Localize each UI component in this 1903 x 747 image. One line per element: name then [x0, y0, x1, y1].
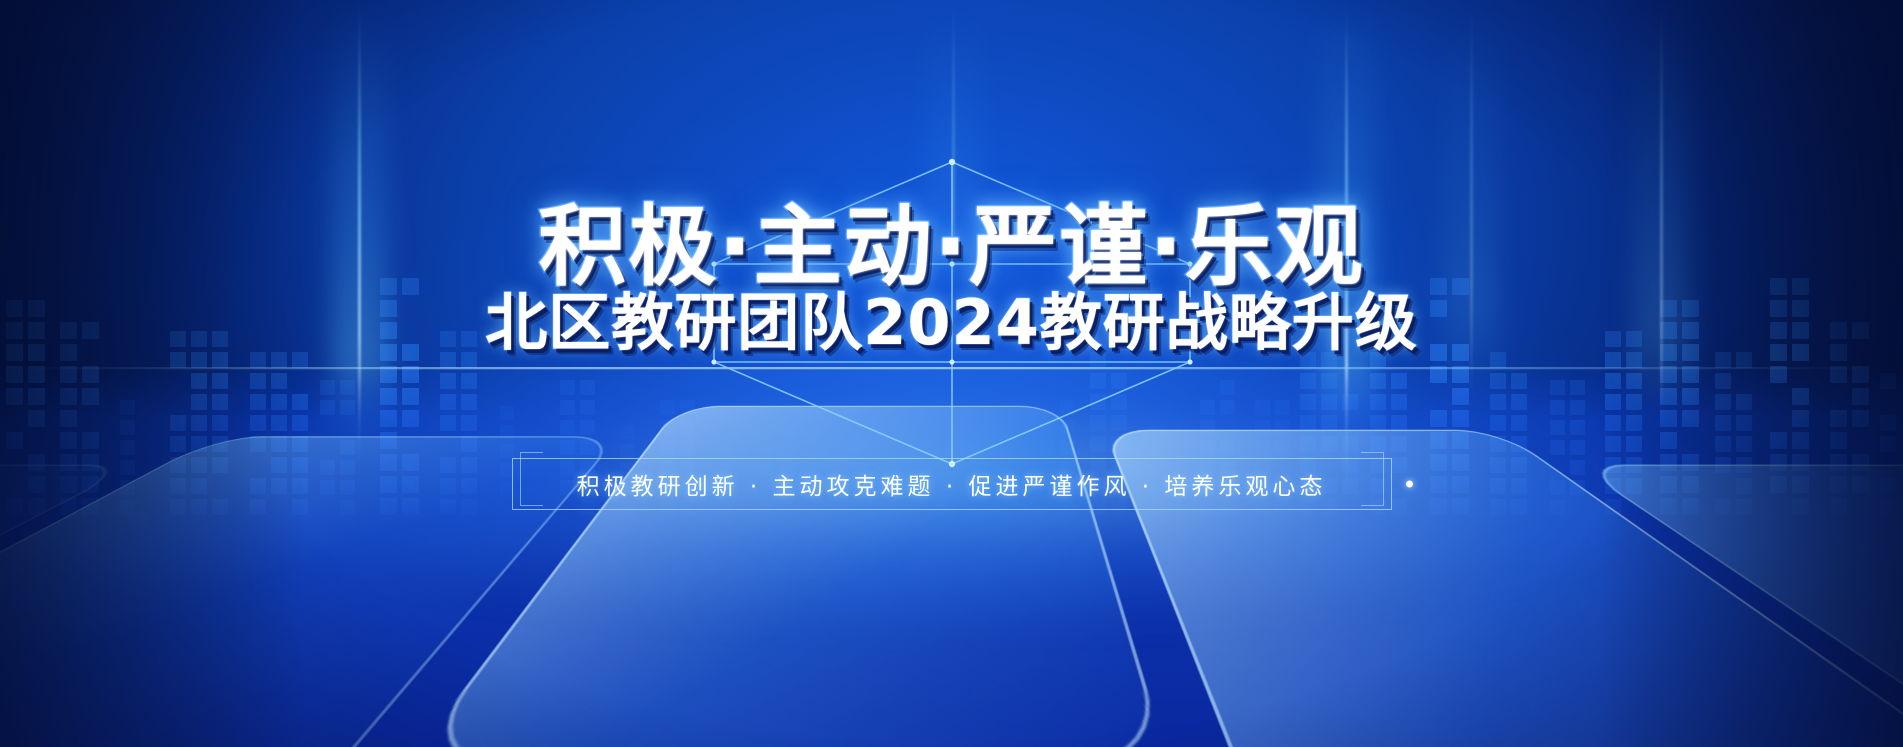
event-banner: 积极·主动·严谨·乐观 北区教研团队2024教研战略升级 积极教研创新 · 主动… — [0, 0, 1903, 747]
banner-subtitle: 北区教研团队2024教研战略升级 — [0, 272, 1903, 362]
tagline-frame: 积极教研创新 · 主动攻克难题 · 促进严谨作风 · 培养乐观心态 — [512, 458, 1392, 510]
tagline-end-dot — [1406, 481, 1413, 488]
banner-tagline: 积极教研创新 · 主动攻克难题 · 促进严谨作风 · 培养乐观心态 — [577, 467, 1327, 501]
banner-content: 积极·主动·严谨·乐观 北区教研团队2024教研战略升级 积极教研创新 · 主动… — [0, 0, 1903, 747]
